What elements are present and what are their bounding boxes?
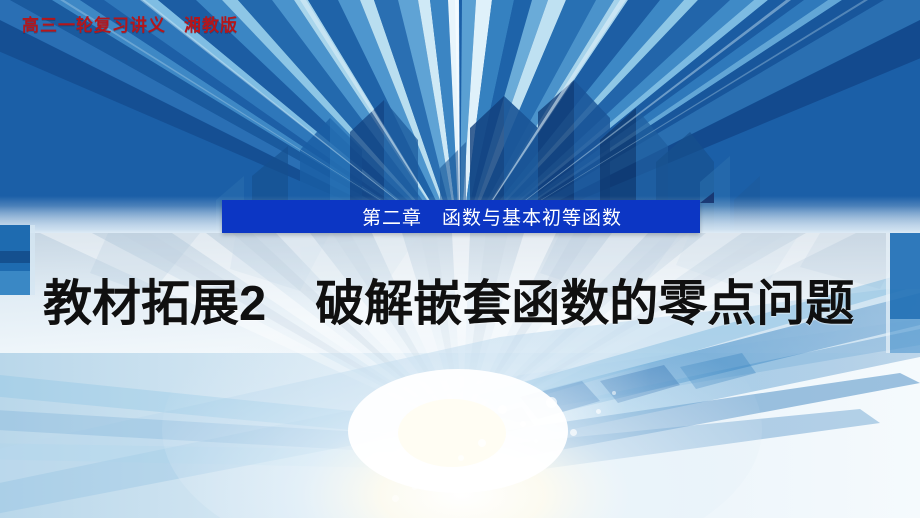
right-accent-bar bbox=[886, 233, 920, 353]
banner-fold-shadow bbox=[700, 192, 714, 203]
chapter-banner: 第二章 函数与基本初等函数 bbox=[222, 200, 700, 233]
page-title: 教材拓展2 破解嵌套函数的零点问题 bbox=[43, 272, 883, 336]
course-header-text: 高三一轮复习讲义 湘教版 bbox=[22, 11, 238, 36]
presentation-slide: 高三一轮复习讲义 湘教版 第二章 函数与基本初等函数 教材拓展2 破解嵌套函数的… bbox=[0, 0, 920, 518]
left-accent-bars bbox=[0, 225, 40, 295]
chapter-banner-label: 第二章 函数与基本初等函数 bbox=[222, 200, 700, 233]
